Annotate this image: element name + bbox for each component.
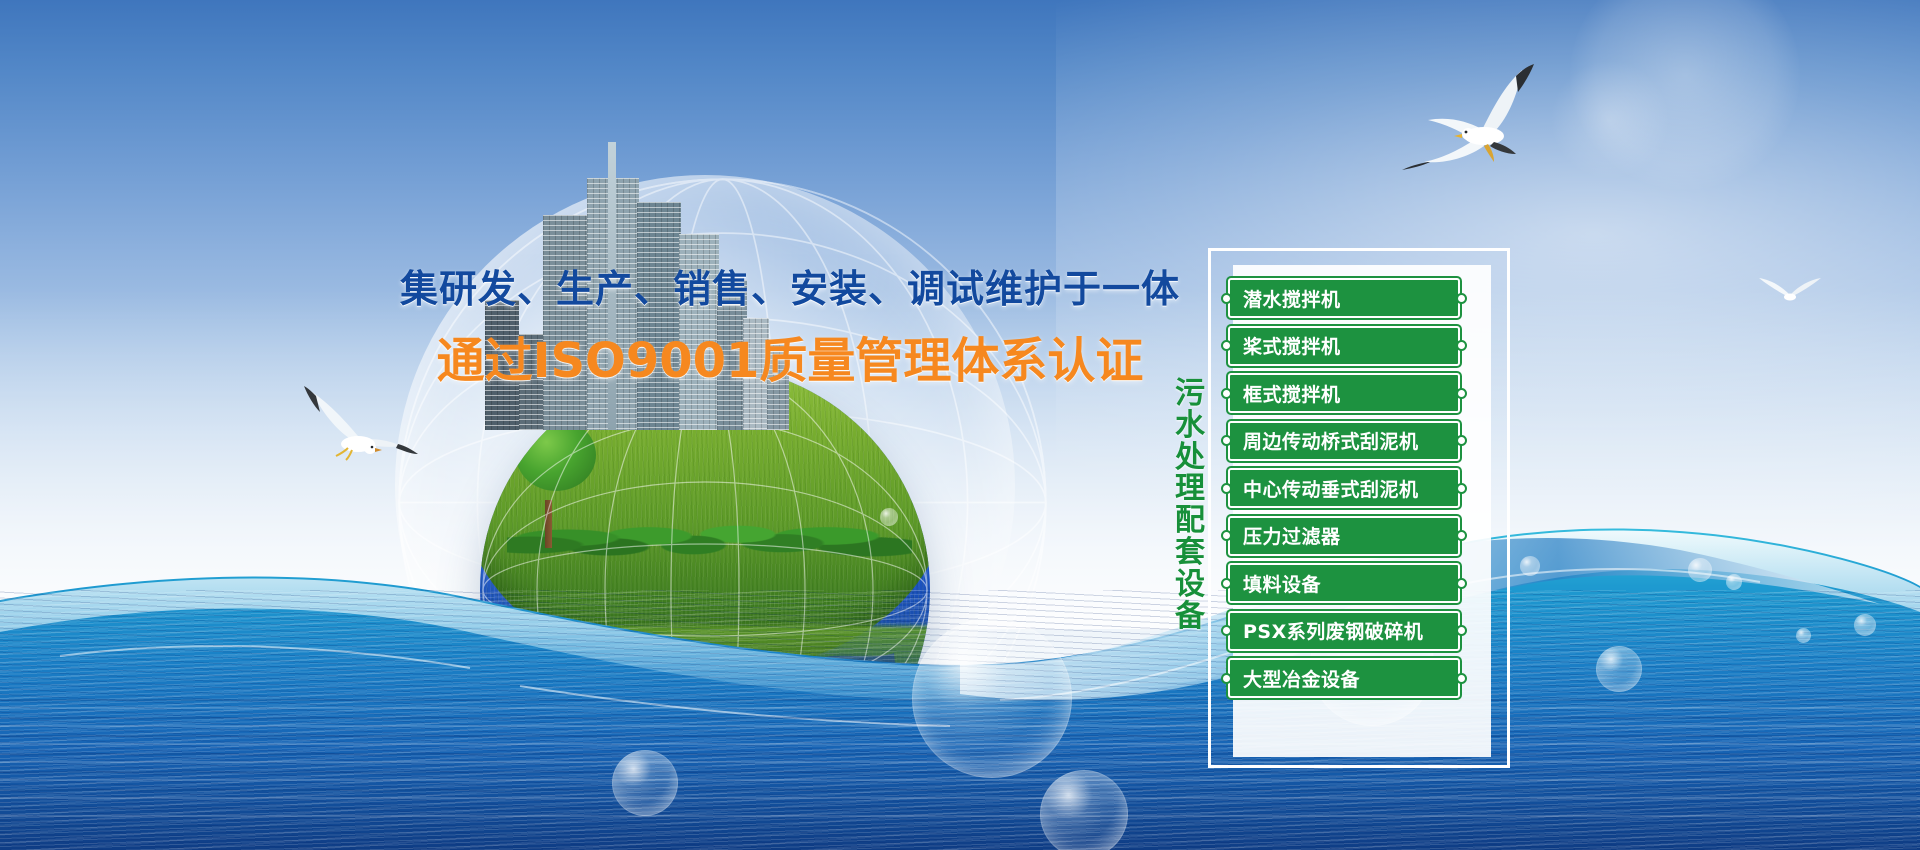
product-item-5[interactable]: 中心传动垂式刮泥机 <box>1228 468 1460 508</box>
connector-knob-left-icon <box>1221 340 1232 351</box>
connector-knob-right-icon <box>1456 340 1467 351</box>
product-item-9[interactable]: 大型冶金设备 <box>1228 658 1460 698</box>
connector-knob-right-icon <box>1456 578 1467 589</box>
water-section <box>0 450 1920 850</box>
product-item-4[interactable]: 周边传动桥式刮泥机 <box>1228 421 1460 461</box>
product-item-label: 桨式搅拌机 <box>1230 332 1341 359</box>
connector-knob-right-icon <box>1456 435 1467 446</box>
product-item-label: PSX系列废钢破碎机 <box>1230 617 1423 644</box>
headline-line-1: 集研发、生产、销售、安装、调试维护于一体 <box>390 258 1190 313</box>
product-item-label: 框式搅拌机 <box>1230 380 1341 407</box>
product-item-label: 潜水搅拌机 <box>1230 285 1341 312</box>
connector-knob-right-icon <box>1456 293 1467 304</box>
product-list: 潜水搅拌机 桨式搅拌机 框式搅拌机 周边传动桥式刮泥机 中心传动垂式刮泥机 压力… <box>1228 278 1460 706</box>
product-item-label: 大型冶金设备 <box>1230 665 1360 692</box>
banner-root: 集研发、生产、销售、安装、调试维护于一体 通过ISO9001质量管理体系认证 <box>0 0 1920 850</box>
connector-knob-left-icon <box>1221 435 1232 446</box>
connector-knob-left-icon <box>1221 625 1232 636</box>
product-item-7[interactable]: 填料设备 <box>1228 563 1460 603</box>
sea-ripple-texture <box>0 590 1920 850</box>
connector-knob-left-icon <box>1221 530 1232 541</box>
product-item-1[interactable]: 潜水搅拌机 <box>1228 278 1460 318</box>
vertical-label-char: 理 <box>1170 473 1210 505</box>
product-item-label: 压力过滤器 <box>1230 522 1341 549</box>
product-item-2[interactable]: 桨式搅拌机 <box>1228 326 1460 366</box>
vertical-label-char: 污 <box>1170 378 1210 410</box>
connector-knob-left-icon <box>1221 293 1232 304</box>
vertical-label-char: 配 <box>1170 505 1210 537</box>
connector-knob-left-icon <box>1221 483 1232 494</box>
product-item-label: 周边传动桥式刮泥机 <box>1230 427 1419 454</box>
vertical-label-char: 水 <box>1170 410 1210 442</box>
connector-knob-right-icon <box>1456 625 1467 636</box>
headline-block: 集研发、生产、销售、安装、调试维护于一体 通过ISO9001质量管理体系认证 <box>390 258 1190 391</box>
connector-knob-left-icon <box>1221 388 1232 399</box>
vertical-label-char: 套 <box>1170 537 1210 569</box>
connector-knob-right-icon <box>1456 483 1467 494</box>
product-item-6[interactable]: 压力过滤器 <box>1228 516 1460 556</box>
connector-knob-right-icon <box>1456 388 1467 399</box>
connector-knob-left-icon <box>1221 673 1232 684</box>
product-item-8[interactable]: PSX系列废钢破碎机 <box>1228 611 1460 651</box>
connector-knob-right-icon <box>1456 530 1467 541</box>
connector-knob-left-icon <box>1221 578 1232 589</box>
vertical-label-char: 设 <box>1170 569 1210 601</box>
vertical-label-char: 处 <box>1170 442 1210 474</box>
panel-vertical-label: 污 水 处 理 配 套 设 备 <box>1170 378 1210 632</box>
headline-line-2: 通过ISO9001质量管理体系认证 <box>390 321 1190 391</box>
connector-knob-right-icon <box>1456 673 1467 684</box>
product-item-label: 填料设备 <box>1230 570 1321 597</box>
product-item-label: 中心传动垂式刮泥机 <box>1230 475 1419 502</box>
vertical-label-char: 备 <box>1170 601 1210 633</box>
product-item-3[interactable]: 框式搅拌机 <box>1228 373 1460 413</box>
